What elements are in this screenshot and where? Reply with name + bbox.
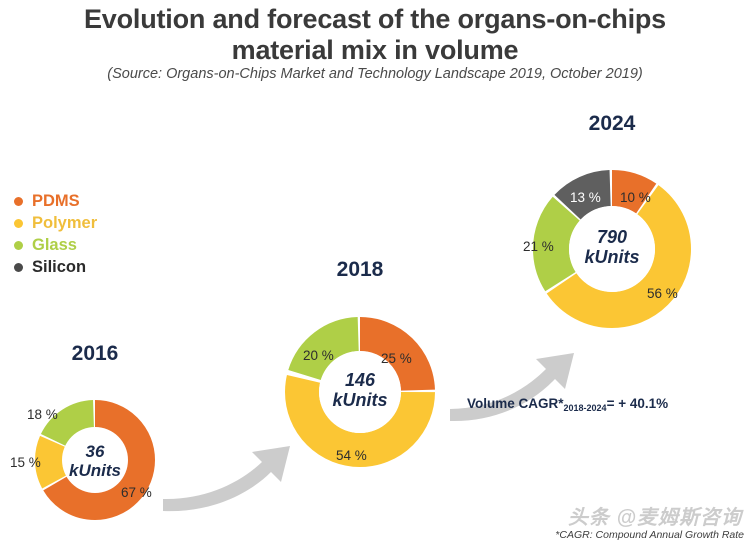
cagr-prefix: Volume CAGR* [467, 396, 564, 411]
donut-2016-svg [33, 398, 157, 522]
legend-label-silicon: Silicon [32, 258, 86, 277]
legend-label-pdms: PDMS [32, 192, 80, 211]
donut-chart-2016: 2016 36 kUnits 67 % 15 % 18 % [33, 398, 157, 522]
legend: PDMS Polymer Glass Silicon [14, 190, 164, 278]
donut-2018-svg [283, 315, 437, 469]
donut-chart-2018: 2018 146 kUnits 25 % 54 % 20 % [283, 315, 437, 469]
cagr-range: 2018-2024 [564, 403, 607, 413]
donut-chart-2024: 2024 790 kUnits 10 % 56 % 21 % 13 % [531, 168, 693, 330]
watermark: 头条 @麦姆斯咨询 [568, 501, 742, 530]
legend-swatch-glass [14, 241, 23, 250]
year-label-2018: 2018 [283, 258, 437, 282]
year-label-2024: 2024 [531, 112, 693, 136]
chart-canvas: Evolution and forecast of the organs-on-… [0, 0, 750, 545]
legend-item-polymer: Polymer [14, 212, 164, 234]
year-label-2016: 2016 [33, 342, 157, 366]
legend-item-pdms: PDMS [14, 190, 164, 212]
legend-swatch-polymer [14, 219, 23, 228]
source-subtitle: (Source: Organs-on-Chips Market and Tech… [40, 66, 710, 82]
cagr-annotation: Volume CAGR*2018-2024= + 40.1% [467, 396, 668, 411]
legend-label-glass: Glass [32, 236, 77, 255]
page-title: Evolution and forecast of the organs-on-… [40, 4, 710, 66]
legend-swatch-silicon [14, 263, 23, 272]
cagr-footnote: *CAGR: Compound Annual Growth Rate [555, 529, 744, 541]
legend-swatch-pdms [14, 197, 23, 206]
arrow-2016-to-2018 [163, 446, 290, 511]
donut-2024-hole [569, 206, 655, 292]
legend-item-glass: Glass [14, 234, 164, 256]
cagr-value: = + 40.1% [607, 396, 669, 411]
legend-item-silicon: Silicon [14, 256, 164, 278]
legend-label-polymer: Polymer [32, 214, 97, 233]
donut-2018-hole [319, 351, 401, 433]
donut-2016-hole [62, 427, 128, 493]
donut-2024-svg [531, 168, 693, 330]
